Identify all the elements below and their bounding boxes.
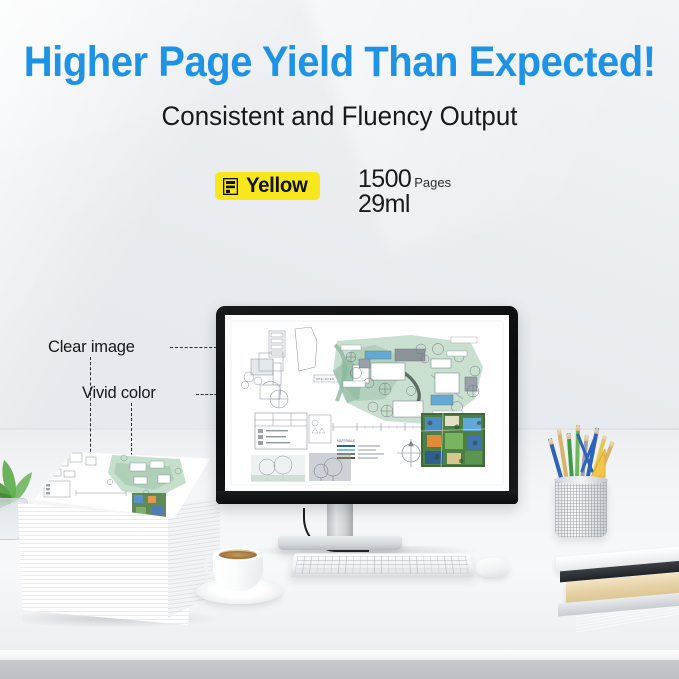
monitor-screen[interactable]: SITE NOTES <box>225 315 509 491</box>
product-marketing-image: Higher Page Yield Than Expected! Consist… <box>0 0 679 679</box>
spec-values: 1500Pages 29ml <box>358 165 488 219</box>
pen-holder-mesh-cup <box>555 479 607 537</box>
book-stack <box>556 552 679 624</box>
coffee-liquid <box>219 551 257 559</box>
svg-text:MATERIALS: MATERIALS <box>337 439 355 443</box>
keyboard[interactable] <box>290 553 474 577</box>
mouse[interactable] <box>476 558 509 577</box>
desk-edge <box>0 650 679 660</box>
spec-row: Yellow 1500Pages 29ml <box>215 168 485 226</box>
ink-cartridge-icon <box>223 178 238 195</box>
pen-holder <box>546 425 618 537</box>
keyboard-keys <box>295 556 470 573</box>
leader-line-clear-image-vertical <box>90 357 91 462</box>
page-subheadline: Consistent and Fluency Output <box>14 99 666 133</box>
monitor-chin <box>216 491 518 504</box>
callout-label-clear-image: Clear image <box>48 338 135 357</box>
page-yield-unit: Pages <box>414 175 451 190</box>
site-plan-svg: SITE NOTES <box>225 315 509 491</box>
desk-front-panel <box>0 660 679 679</box>
ink-volume: 29ml <box>358 190 488 219</box>
svg-text:SITE NOTES: SITE NOTES <box>316 377 334 381</box>
triangle-ruler-icon <box>588 443 608 479</box>
leader-line-clear-image-horizontal <box>170 347 222 348</box>
desktop-monitor[interactable]: SITE NOTES <box>216 306 518 504</box>
color-badge-label: Yellow <box>246 174 308 198</box>
monitor-stand-neck <box>327 504 353 540</box>
callout-label-vivid-color: Vivid color <box>82 384 156 403</box>
printed-paper-stack <box>18 452 224 632</box>
monitor-stand-base <box>278 536 402 550</box>
color-badge: Yellow <box>215 172 320 200</box>
page-headline: Higher Page Yield Than Expected! <box>24 38 655 86</box>
page-yield-value: 1500 <box>358 165 411 193</box>
landscape-site-plan-drawing: SITE NOTES <box>225 315 509 491</box>
